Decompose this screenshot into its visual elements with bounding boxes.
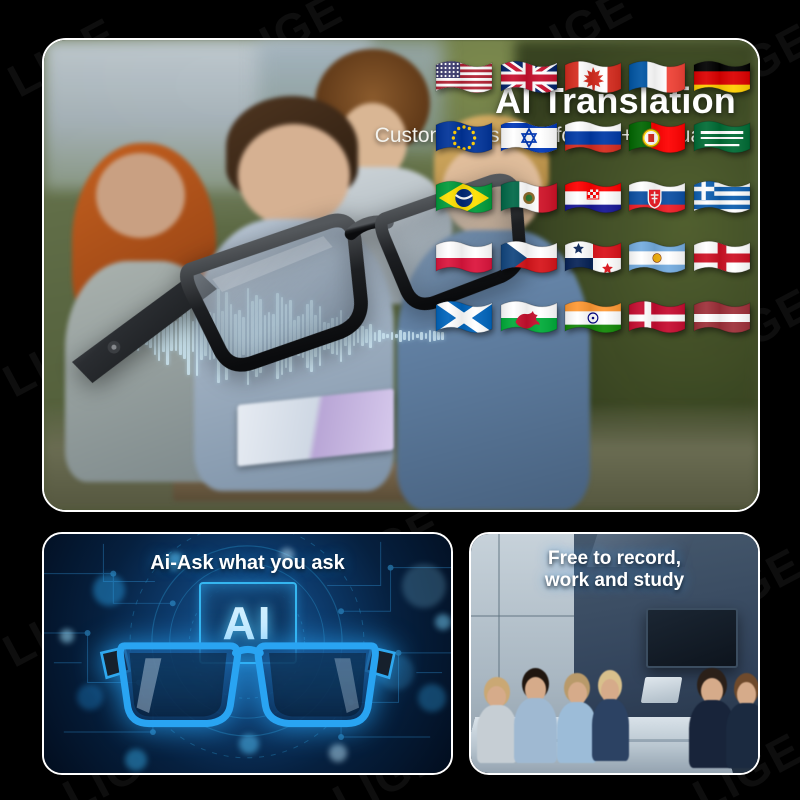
bokeh-dot [93,574,125,606]
flag-ru [564,118,622,158]
flag-us [435,58,493,98]
attendee [477,677,517,763]
flag-cz [500,238,558,278]
flag-lv [693,298,751,338]
language-flag-grid [432,48,754,348]
flag-ar [628,238,686,278]
flag-il [500,118,558,158]
attendee [592,670,629,761]
meeting-title-line2: work and study [471,570,758,592]
flag-de [693,58,751,98]
flag-en [693,238,751,278]
flag-mx [500,178,558,218]
neon-glasses [81,630,415,745]
wall-display [646,608,738,668]
bokeh-dot [329,744,347,762]
flag-pa [564,238,622,278]
flag-sk [628,178,686,218]
attendee [726,673,760,769]
flag-sc [435,298,493,338]
flag-ca [564,58,622,98]
ai-panel-title: Ai-Ask what you ask [44,552,451,575]
bokeh-dot [435,614,451,630]
flag-pl [435,238,493,278]
flag-pt [628,118,686,158]
flag-gr [693,178,751,218]
flag-wl [500,298,558,338]
flag-dk [628,298,686,338]
attendee-torso [592,699,629,761]
flag-gb [500,58,558,98]
flag-fr [628,58,686,98]
attendee-torso [514,698,557,763]
attendee [514,668,557,764]
attendee-torso [477,705,517,764]
laptop [641,677,683,703]
panel-ai-ask: AI Ai-Ask what you a [42,532,453,775]
meeting-panel-title: Free to record, work and study [471,548,758,593]
meeting-title-line1: Free to record, [471,548,758,570]
flag-sa [693,118,751,158]
flag-br [435,178,493,218]
panel-ai-translation: AI Translation Custom translation for 10… [42,38,760,512]
promo-collage: LIGELIGELIGELIGELIGELIGELIGELIGELIGELIGE… [0,0,800,800]
hero-photo: AI Translation Custom translation for 10… [44,40,758,510]
flag-eu [435,118,493,158]
flag-in [564,298,622,338]
flag-hr [564,178,622,218]
panel-free-to-record: Free to record, work and study [469,532,760,775]
attendee-torso [726,703,760,768]
